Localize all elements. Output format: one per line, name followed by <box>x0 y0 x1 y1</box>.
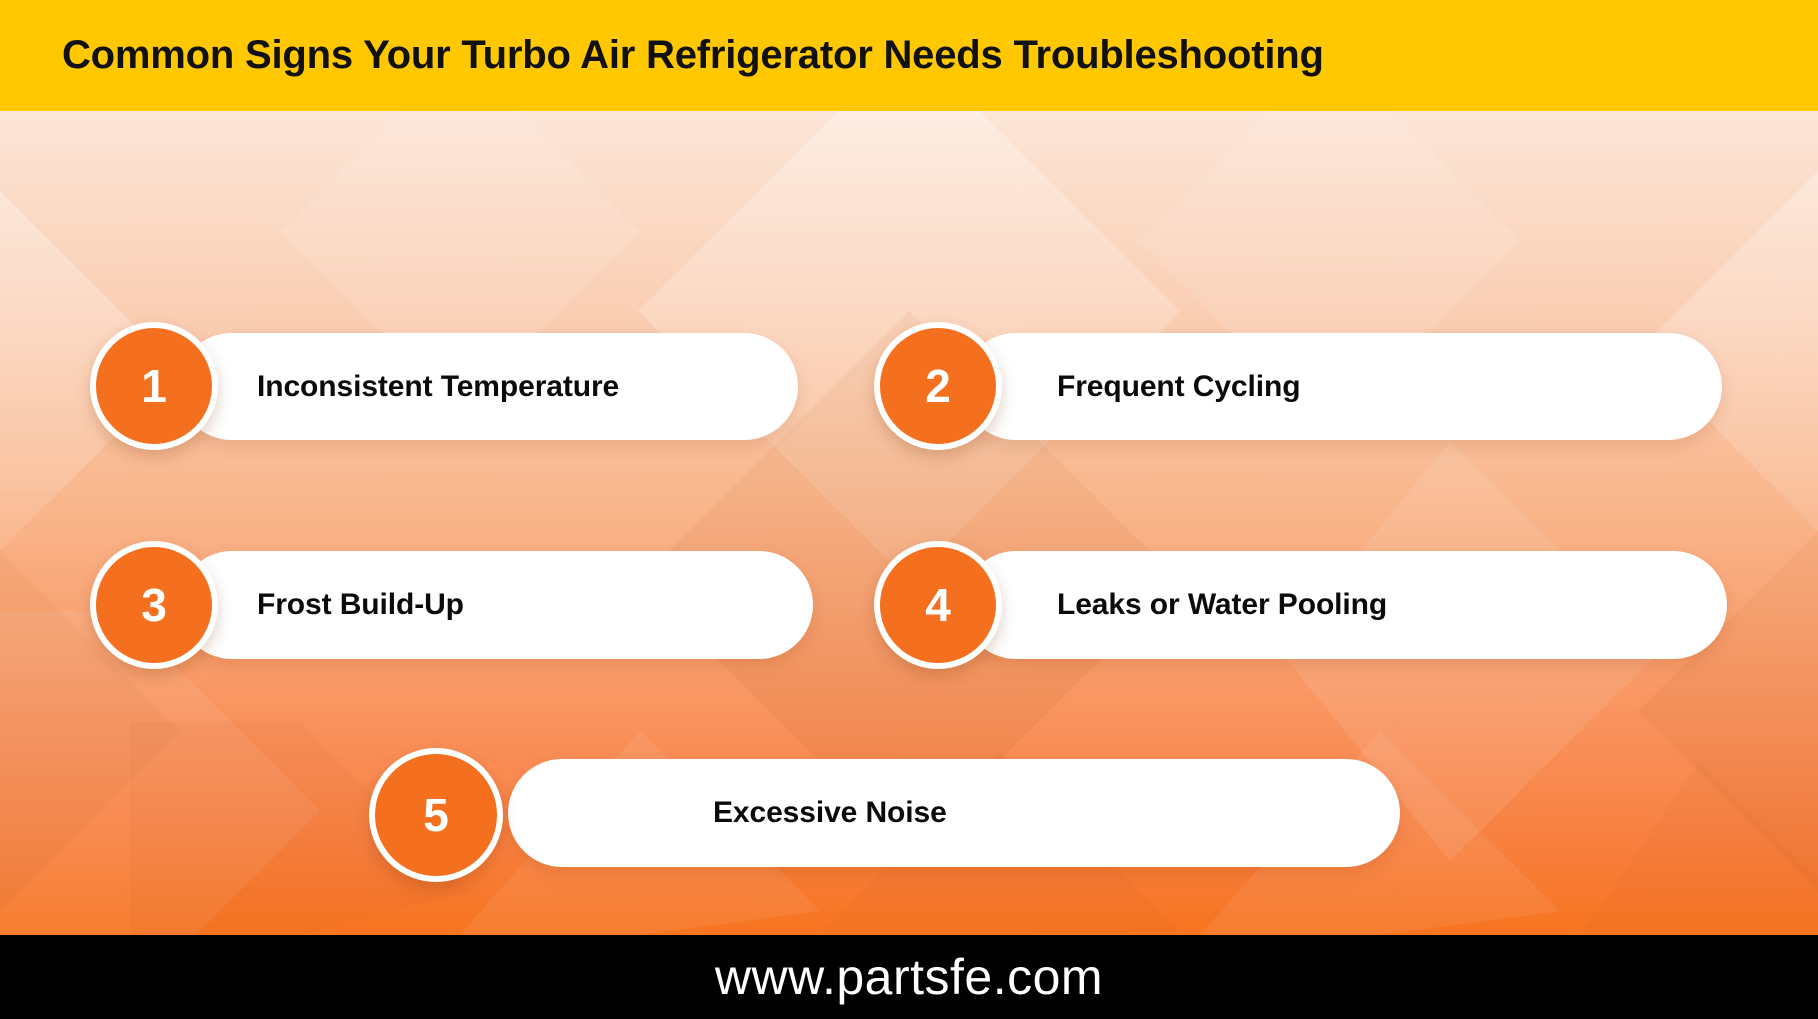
step-number-badge: 2 <box>874 322 1002 450</box>
infographic-root: Common Signs Your Turbo Air Refrigerator… <box>0 0 1818 1019</box>
list-item[interactable]: Leaks or Water Pooling <box>962 551 1727 659</box>
step-number-value: 1 <box>141 363 167 409</box>
step-number-badge: 3 <box>90 541 218 669</box>
step-number-value: 5 <box>423 792 449 838</box>
list-item[interactable]: Excessive Noise <box>508 759 1400 867</box>
page-title: Common Signs Your Turbo Air Refrigerator… <box>62 33 1324 78</box>
step-number-value: 3 <box>141 582 167 628</box>
footer-band: www.partsfe.com <box>0 935 1818 1019</box>
list-item-label: Excessive Noise <box>713 796 947 830</box>
step-number-badge: 1 <box>90 322 218 450</box>
list-item-label: Leaks or Water Pooling <box>1057 588 1387 622</box>
header-band: Common Signs Your Turbo Air Refrigerator… <box>0 0 1818 111</box>
step-number-value: 4 <box>925 582 951 628</box>
list-item[interactable]: Inconsistent Temperature <box>178 333 798 440</box>
list-item[interactable]: Frequent Cycling <box>962 333 1722 440</box>
list-item[interactable]: Frost Build-Up <box>178 551 813 659</box>
list-item-label: Frost Build-Up <box>257 588 464 622</box>
step-number-value: 2 <box>925 363 951 409</box>
content-stage: Inconsistent Temperature 1 Frequent Cycl… <box>0 111 1818 935</box>
list-item-label: Frequent Cycling <box>1057 370 1300 404</box>
step-number-badge: 4 <box>874 541 1002 669</box>
list-item-label: Inconsistent Temperature <box>257 370 619 404</box>
step-number-badge: 5 <box>369 748 503 882</box>
website-url[interactable]: www.partsfe.com <box>715 948 1103 1006</box>
